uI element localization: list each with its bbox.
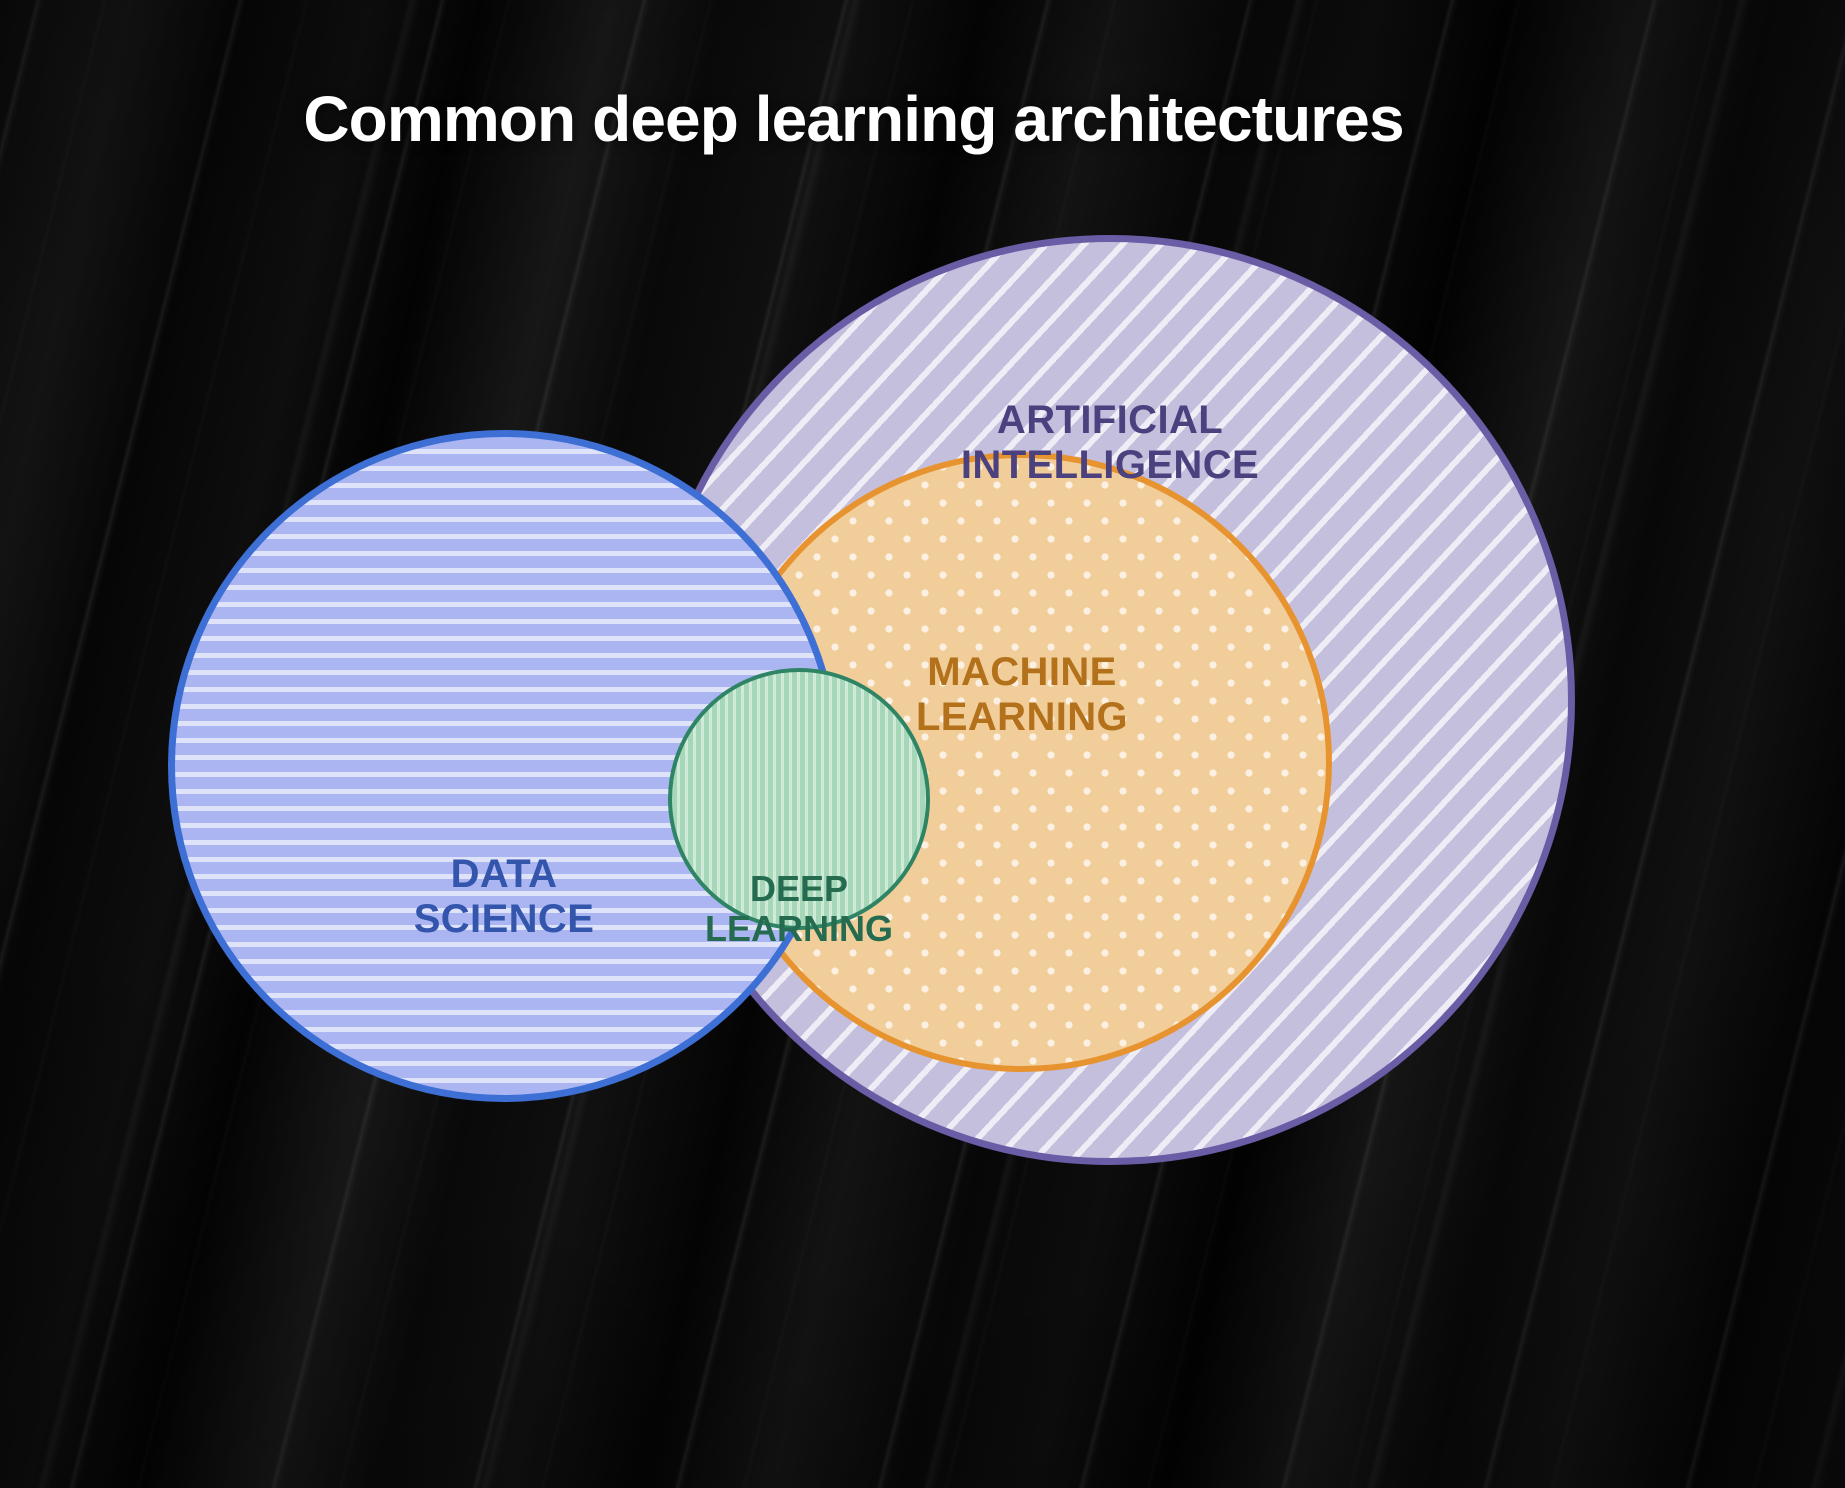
venn-diagram-canvas: Common deep learning architectures ARTIF… — [0, 0, 1845, 1488]
page-title: Common deep learning architectures — [0, 86, 1845, 153]
venn-circle-deep-learning[interactable] — [668, 668, 930, 930]
